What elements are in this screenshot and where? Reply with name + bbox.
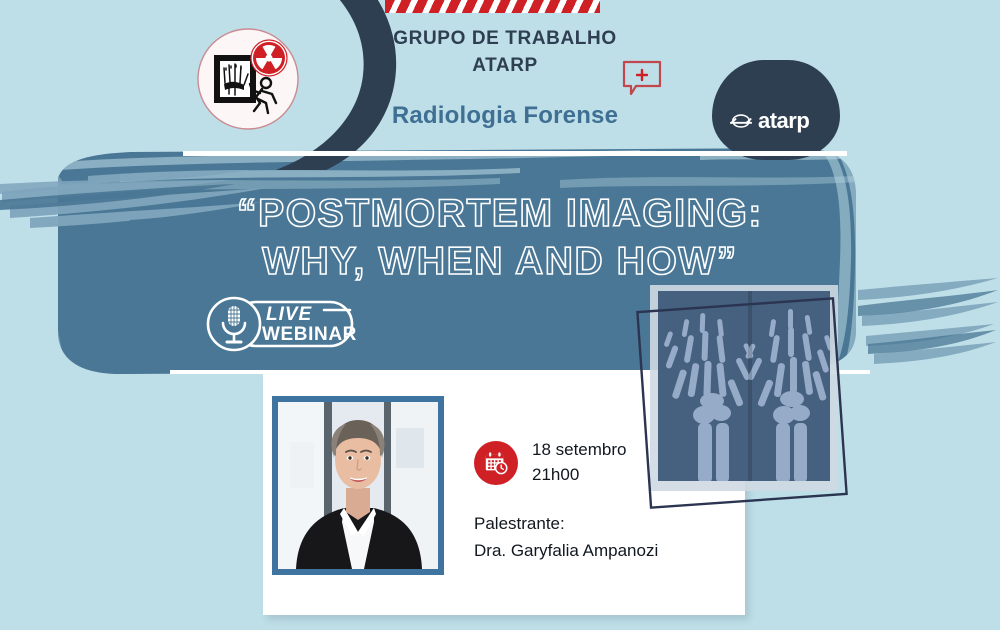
calendar-clock-icon bbox=[474, 441, 518, 485]
speech-bubble-plus-icon bbox=[620, 58, 664, 98]
org-line-1: GRUPO DE TRABALHO bbox=[300, 26, 710, 53]
atarp-wordmark: atarp bbox=[758, 110, 809, 132]
event-datetime: 18 setembro 21h00 bbox=[474, 438, 627, 487]
live-webinar-badge: LIVE WEBINAR bbox=[200, 288, 360, 360]
speaker-label: Palestrante: bbox=[474, 510, 658, 537]
subject-title: Radiologia Forense bbox=[300, 102, 710, 130]
hand-xray-image bbox=[636, 283, 866, 533]
header-divider-rule bbox=[183, 151, 847, 156]
avatar bbox=[272, 396, 444, 575]
title-line-2: WHY, WHEN AND HOW” bbox=[0, 238, 1000, 286]
badge-line-2: WEBINAR bbox=[262, 324, 357, 345]
event-time: 21h00 bbox=[532, 463, 627, 488]
atarp-swoosh-icon bbox=[730, 113, 752, 129]
speaker-block: Palestrante: Dra. Garyfalia Ampanozi bbox=[474, 510, 658, 564]
speaker-portrait bbox=[278, 402, 438, 569]
forensic-radiology-emblem-icon bbox=[196, 27, 300, 131]
hazard-stripe bbox=[385, 0, 600, 13]
badge-line-1: LIVE bbox=[266, 304, 313, 325]
page-title: “POSTMORTEM IMAGING: WHY, WHEN AND HOW” bbox=[0, 190, 1000, 285]
title-line-1: “POSTMORTEM IMAGING: bbox=[0, 190, 1000, 238]
date-text-block: 18 setembro 21h00 bbox=[532, 438, 627, 487]
poster-canvas: atarp GRUPO DE TRABALHO ATARP Radiologia… bbox=[0, 0, 1000, 630]
atarp-logo: atarp bbox=[730, 110, 809, 132]
event-date: 18 setembro bbox=[532, 438, 627, 463]
speaker-name: Dra. Garyfalia Ampanozi bbox=[474, 537, 658, 564]
